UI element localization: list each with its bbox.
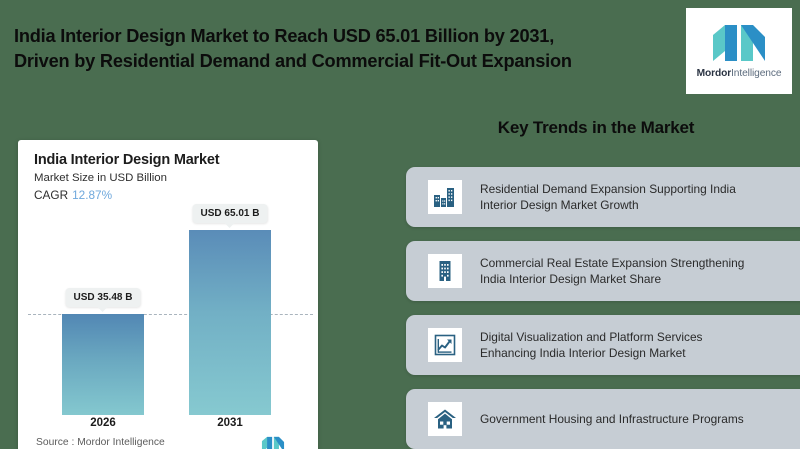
bar-2031[interactable]: [189, 230, 271, 415]
bar-value-label-2031: USD 65.01 B: [193, 204, 268, 223]
cagr-value: 12.87%: [72, 188, 112, 202]
house-icon: [428, 402, 462, 436]
trend-text: Digital Visualization and Platform Servi…: [480, 329, 703, 362]
chart-source-label: Source : Mordor Intelligence: [36, 437, 165, 448]
trend-text: Commercial Real Estate Expansion Strengt…: [480, 255, 744, 288]
trend-text-line-1: Commercial Real Estate Expansion Strengt…: [480, 256, 744, 270]
trend-text-line-2: Interior Design Market Growth: [480, 198, 639, 212]
source-mordor-logo-icon: [260, 436, 286, 449]
chart-card: India Interior Design Market Market Size…: [18, 140, 318, 449]
trend-text-line-2: India Interior Design Market Share: [480, 272, 661, 286]
trend-card-commercial-real-estate[interactable]: Commercial Real Estate Expansion Strengt…: [406, 241, 800, 301]
mordor-logo-wordmark: MordorIntelligence: [697, 68, 782, 79]
mordor-logo-mark-icon: [711, 23, 767, 63]
city-buildings-icon: [428, 180, 462, 214]
chart-subtitle: Market Size in USD Billion: [34, 172, 167, 184]
logo-brand-bold: Mordor: [697, 68, 731, 79]
headline-line-1: India Interior Design Market to Reach US…: [14, 24, 664, 49]
trend-text-line-1: Digital Visualization and Platform Servi…: [480, 330, 703, 344]
key-trends-heading: Key Trends in the Market: [406, 118, 786, 138]
trend-text-line-1: Residential Demand Expansion Supporting …: [480, 182, 736, 196]
x-axis-label-2026: 2026: [63, 417, 143, 429]
bar-value-label-2026: USD 35.48 B: [66, 288, 141, 307]
mordor-intelligence-logo: MordorIntelligence: [686, 8, 792, 94]
chart-title: India Interior Design Market: [34, 152, 219, 168]
trend-text: Residential Demand Expansion Supporting …: [480, 181, 736, 214]
x-axis-label-2031: 2031: [190, 417, 270, 429]
trend-card-digital-visualization[interactable]: Digital Visualization and Platform Servi…: [406, 315, 800, 375]
trend-card-residential-demand[interactable]: Residential Demand Expansion Supporting …: [406, 167, 800, 227]
trend-text: Government Housing and Infrastructure Pr…: [480, 411, 744, 428]
bar-chart-plot-area: USD 35.48 B USD 65.01 B: [18, 210, 318, 415]
page-title: India Interior Design Market to Reach US…: [14, 24, 664, 74]
headline-line-2: Driven by Residential Demand and Commerc…: [14, 49, 664, 74]
trend-text-line-1: Government Housing and Infrastructure Pr…: [480, 412, 744, 426]
bar-2026[interactable]: [62, 314, 144, 415]
trend-card-government-housing[interactable]: Government Housing and Infrastructure Pr…: [406, 389, 800, 449]
trend-text-line-2: Enhancing India Interior Design Market: [480, 346, 686, 360]
office-building-icon: [428, 254, 462, 288]
page-header: India Interior Design Market to Reach US…: [0, 0, 800, 104]
chart-cagr: CAGR12.87%: [34, 188, 112, 202]
chart-line-up-icon: [428, 328, 462, 362]
cagr-label: CAGR: [34, 188, 68, 202]
logo-brand-light: Intelligence: [731, 68, 781, 79]
